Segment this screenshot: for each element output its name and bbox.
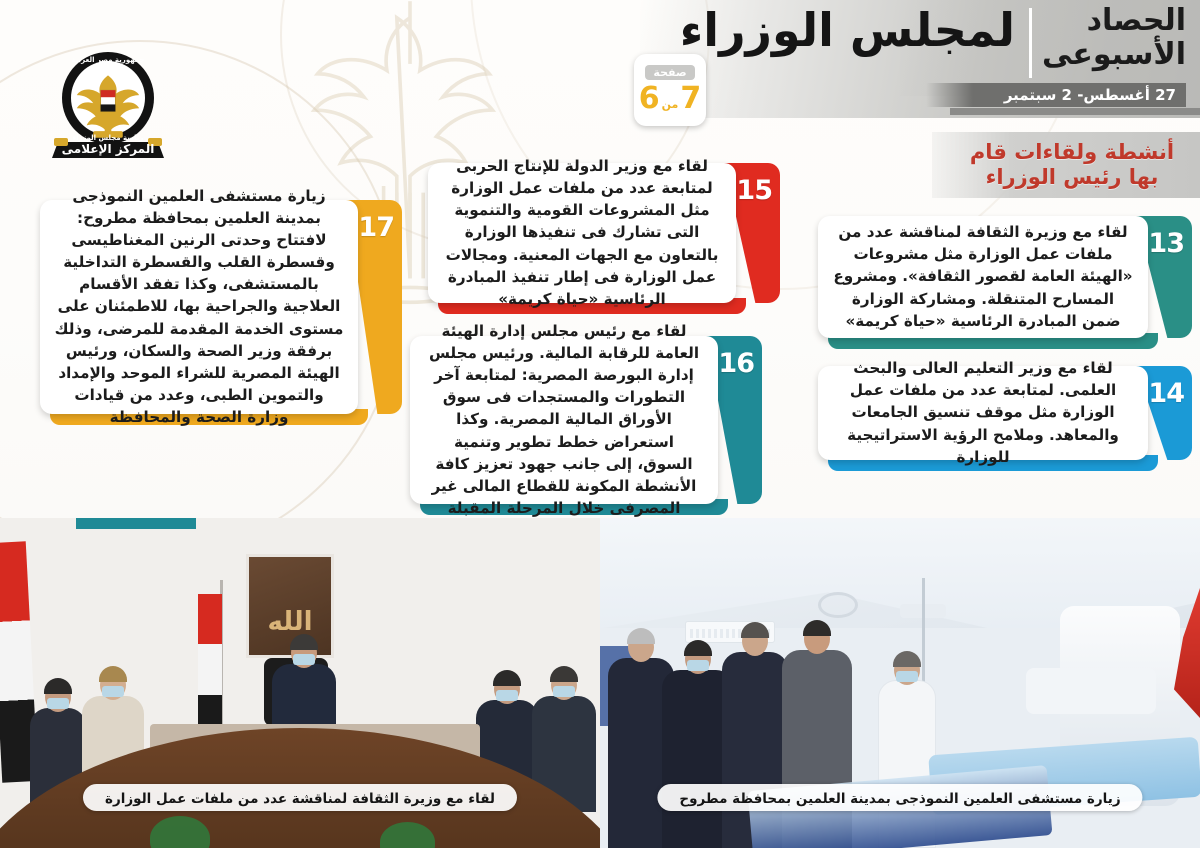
header-title-main: لمجلس الوزراء xyxy=(680,6,1015,54)
svg-text:رئاسة مجلس الوزراء: رئاسة مجلس الوزراء xyxy=(73,134,144,142)
section-banner: أنشطة ولقاءات قام بها رئيس الوزراء xyxy=(932,132,1200,198)
page-badge-current: 6 xyxy=(639,81,660,116)
header-date-bar: 27 أغسطس- 2 سبتمبر xyxy=(926,83,1186,107)
header-title-block: الحصاد الأسبوعى xyxy=(1042,4,1186,71)
card-body-16: لقاء مع رئيس مجلس إدارة الهيئة العامة لل… xyxy=(410,336,718,504)
photo-caption-meeting-text: لقاء مع وزيرة الثقافة لمناقشة عدد من ملف… xyxy=(105,791,495,807)
header-title-line1: الحصاد xyxy=(1042,4,1186,38)
header-title-line2: الأسبوعى xyxy=(1042,38,1186,72)
photo-hospital-visit: زيارة مستشفى العلمين النموذجى بمدينة الع… xyxy=(600,518,1200,848)
infographic-page: جمهورية مصر العربية رئاسة مجلس الوزراء ا… xyxy=(0,0,1200,848)
card-number-17: 17 xyxy=(358,212,394,243)
card-text-16: لقاء مع رئيس مجلس إدارة الهيئة العامة لل… xyxy=(424,320,704,518)
page-badge-numbers: 6 من 7 xyxy=(639,81,701,116)
card-text-14: لقاء مع وزير التعليم العالى والبحث العلم… xyxy=(832,357,1134,467)
page-badge-of: من xyxy=(662,98,679,111)
card-text-17: زيارة مستشفى العلمين النموذجى بمدينة الع… xyxy=(54,185,344,427)
page-number-badge: صفحة 6 من 7 xyxy=(634,54,706,126)
card-number-13: 13 xyxy=(1148,228,1184,259)
card-text-15: لقاء مع وزير الدولة للإنتاج الحربى لمتاب… xyxy=(442,155,722,309)
header-rule xyxy=(950,108,1200,115)
cabinet-media-center-logo: جمهورية مصر العربية رئاسة مجلس الوزراء ا… xyxy=(40,46,180,166)
card-number-14: 14 xyxy=(1148,378,1184,409)
top-section: جمهورية مصر العربية رئاسة مجلس الوزراء ا… xyxy=(0,0,1200,530)
activity-card-17[interactable]: 17 زيارة مستشفى العلمين النموذجى بمدينة … xyxy=(40,200,400,414)
header-divider xyxy=(1029,8,1032,78)
card-number-15: 15 xyxy=(736,175,772,206)
photo-strip: زيارة مستشفى العلمين النموذجى بمدينة الع… xyxy=(0,518,1200,848)
activity-card-13[interactable]: 13 لقاء مع وزيرة الثقافة لمناقشة عدد من … xyxy=(818,216,1190,338)
photo-cabinet-meeting: لقاء مع وزيرة الثقافة لمناقشة عدد من ملف… xyxy=(0,518,600,848)
section-banner-line2: بها رئيس الوزراء xyxy=(986,165,1159,190)
photo-caption-meeting: لقاء مع وزيرة الثقافة لمناقشة عدد من ملف… xyxy=(83,784,517,811)
activity-card-16[interactable]: 16 لقاء مع رئيس مجلس إدارة الهيئة العامة… xyxy=(410,336,760,504)
activity-card-15[interactable]: 15 لقاء مع وزير الدولة للإنتاج الحربى لم… xyxy=(428,163,778,303)
card-number-16: 16 xyxy=(718,348,754,379)
page-badge-total: 7 xyxy=(680,81,701,116)
svg-text:جمهورية مصر العربية: جمهورية مصر العربية xyxy=(71,56,144,64)
header-date-text: 27 أغسطس- 2 سبتمبر xyxy=(1004,86,1176,104)
activity-card-14[interactable]: 14 لقاء مع وزير التعليم العالى والبحث ال… xyxy=(818,366,1190,460)
photo-caption-hospital-text: زيارة مستشفى العلمين النموذجى بمدينة الع… xyxy=(679,791,1120,807)
card-body-14: لقاء مع وزير التعليم العالى والبحث العلم… xyxy=(818,366,1148,460)
card-body-13: لقاء مع وزيرة الثقافة لمناقشة عدد من ملف… xyxy=(818,216,1148,338)
svg-text:المركز الإعلامى: المركز الإعلامى xyxy=(62,142,155,156)
page-badge-label: صفحة xyxy=(645,65,694,80)
card-body-15: لقاء مع وزير الدولة للإنتاج الحربى لمتاب… xyxy=(428,163,736,303)
photo-caption-hospital: زيارة مستشفى العلمين النموذجى بمدينة الع… xyxy=(657,784,1142,811)
section-banner-line1: أنشطة ولقاءات قام xyxy=(970,140,1174,165)
card-text-13: لقاء مع وزيرة الثقافة لمناقشة عدد من ملف… xyxy=(832,221,1134,331)
card-body-17: زيارة مستشفى العلمين النموذجى بمدينة الع… xyxy=(40,200,358,414)
